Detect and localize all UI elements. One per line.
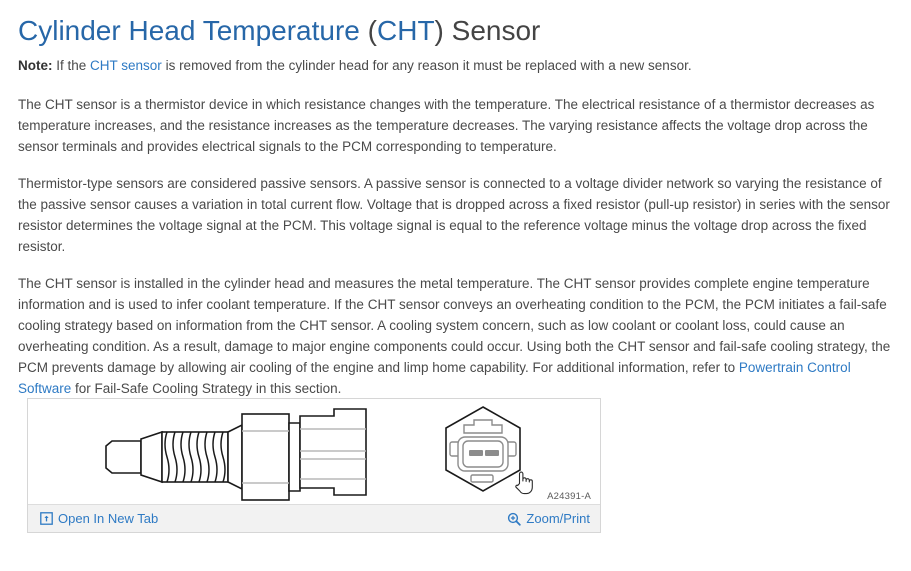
paragraph-installation-failsafe: The CHT sensor is installed in the cylin…	[0, 273, 911, 399]
connector-terminal-pin-2	[485, 450, 499, 456]
connector-latch-bottom	[471, 475, 493, 482]
note-label: Note:	[18, 58, 53, 73]
connector-terminal-pin-1	[469, 450, 483, 456]
paragraph-passive-sensor: Thermistor-type sensors are considered p…	[0, 173, 911, 257]
zoom-print-button[interactable]: Zoom/Print	[507, 512, 590, 526]
magnifier-plus-icon	[507, 512, 521, 526]
sensor-connector-housing	[300, 409, 366, 495]
page-title-suffix: Sensor	[444, 15, 541, 46]
note-line: Note: If the CHT sensor is removed from …	[0, 56, 911, 75]
sensor-connector-neck	[289, 423, 300, 491]
note-text-after-link: is removed from the cylinder head for an…	[162, 58, 692, 73]
figure-id-label: A24391-A	[547, 491, 591, 502]
page-title-paren-close: )	[435, 15, 444, 46]
page-title-primary: Cylinder Head Temperature	[18, 15, 368, 46]
page-title-paren-open: (	[368, 15, 377, 46]
article-page: Cylinder Head Temperature (CHT) Sensor N…	[0, 0, 911, 571]
sensor-thread-body	[162, 432, 228, 482]
sensor-thread-to-flange	[228, 425, 242, 489]
paragraph-thermistor-operation: The CHT sensor is a thermistor device in…	[0, 94, 911, 157]
figure-panel: A24391-A Open In New Tab Zoom/Print	[27, 398, 601, 533]
open-in-new-window-icon	[40, 512, 53, 525]
page-title: Cylinder Head Temperature (CHT) Sensor	[0, 0, 911, 48]
paragraph-text-after-link: for Fail-Safe Cooling Strategy in this s…	[71, 381, 341, 396]
sensor-probe-tip	[106, 441, 141, 473]
page-title-abbreviation: CHT	[377, 15, 435, 46]
sensor-line-drawing	[28, 399, 600, 505]
figure-toolbar: Open In New Tab Zoom/Print	[28, 504, 600, 532]
cht-sensor-link[interactable]: CHT sensor	[90, 58, 162, 73]
sensor-hex-flange	[242, 414, 289, 500]
zoom-print-label: Zoom/Print	[526, 512, 590, 525]
open-in-new-tab-button[interactable]: Open In New Tab	[40, 512, 158, 525]
sensor-shoulder	[141, 432, 162, 482]
note-text-before-link: If the	[53, 58, 91, 73]
figure-image[interactable]: A24391-A	[28, 399, 600, 505]
open-in-new-tab-label: Open In New Tab	[58, 512, 158, 525]
